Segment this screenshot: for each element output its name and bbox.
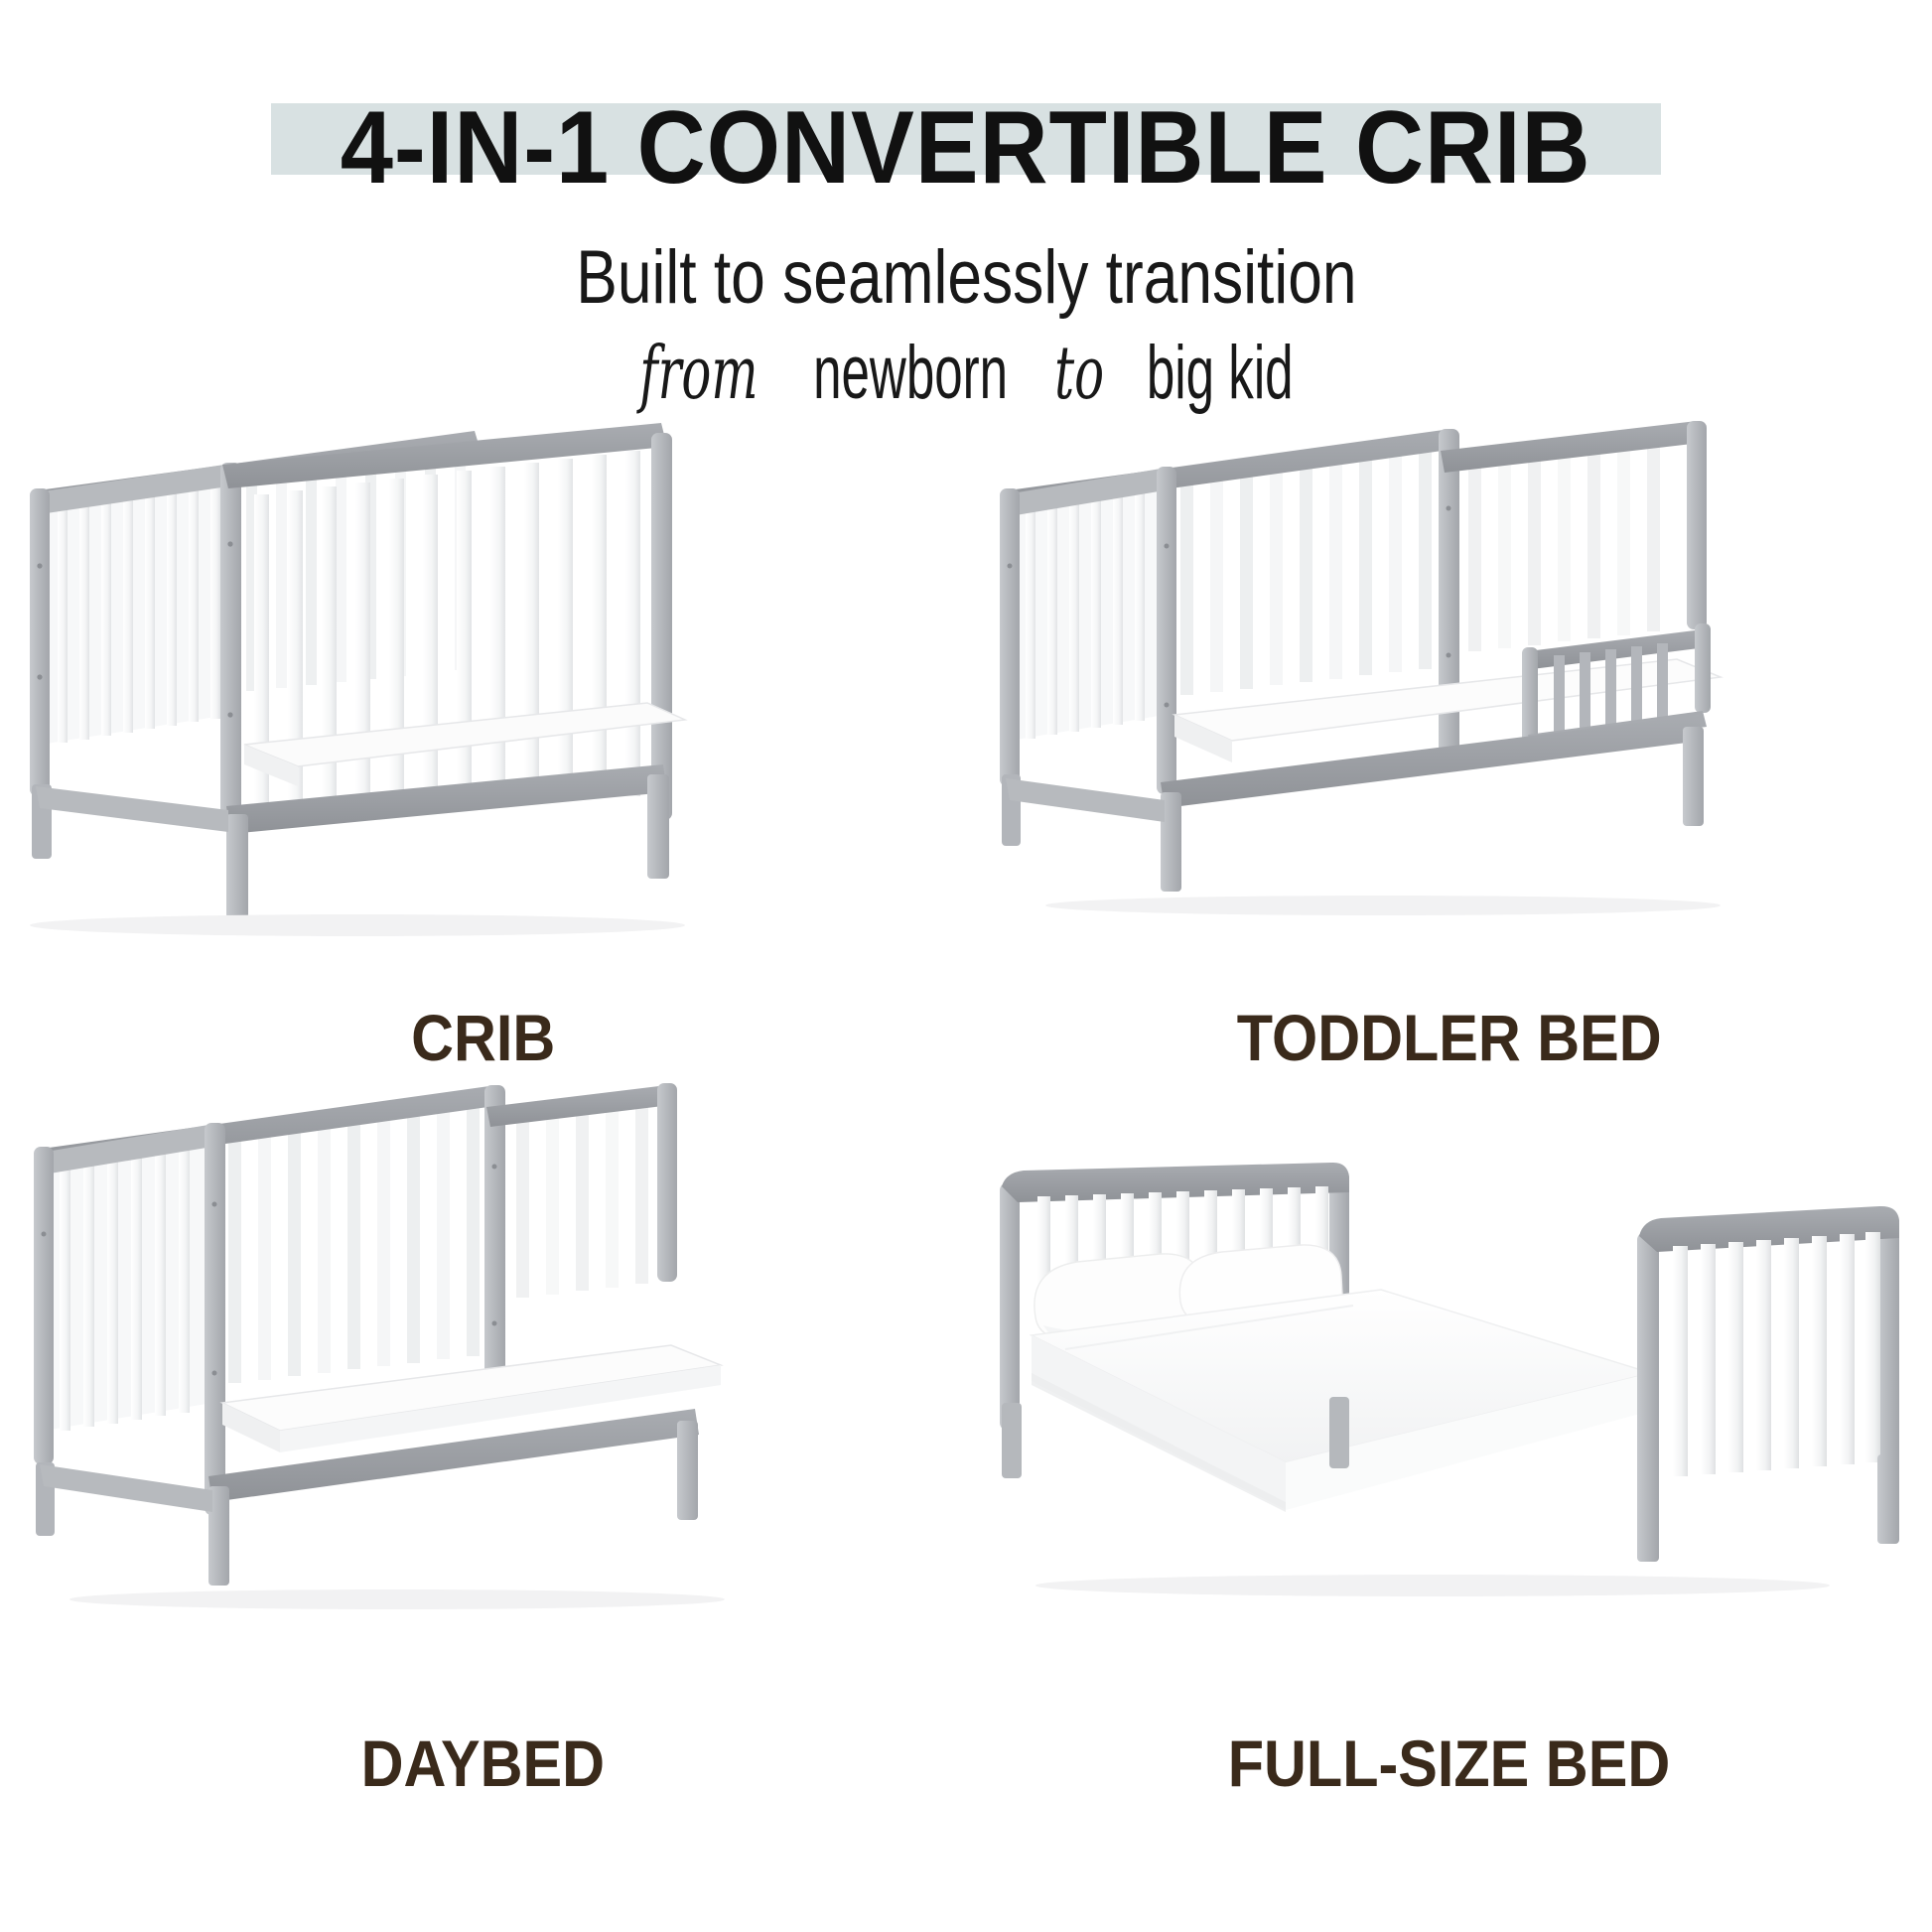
daybed-leg-front-right	[677, 1421, 698, 1520]
crib-front-left-post	[220, 463, 241, 820]
toddler-front-left-post	[1157, 467, 1176, 794]
infographic-page: 4-IN-1 CONVERTIBLE CRIB Built to seamles…	[0, 0, 1932, 1932]
product-grid: CRIB	[0, 417, 1932, 1932]
crib-leg-front-right	[647, 774, 669, 879]
product-cell-daybed: DAYBED	[0, 1075, 966, 1833]
headboard-left-post	[1000, 1182, 1020, 1431]
bed-leg-head-left	[1002, 1403, 1022, 1478]
subtitle-word-bigkid: big kid	[1146, 334, 1293, 414]
daybed-right-back-slats	[516, 1095, 648, 1298]
caption-full-size-bed: FULL-SIZE BED	[966, 1730, 1932, 1796]
toddler-bed-illustration	[966, 417, 1932, 993]
daybed-illustration	[0, 1075, 966, 1651]
daybed-front-left-post	[205, 1123, 225, 1515]
crib-illustration	[0, 417, 966, 993]
footboard-slats	[1673, 1232, 1880, 1476]
full-size-bed-illustration	[966, 1075, 1932, 1651]
daybed-left-panel	[44, 1127, 212, 1431]
bed-footboard	[1637, 1206, 1899, 1560]
caption-crib: CRIB	[0, 1005, 966, 1070]
daybed-right-corner-post	[657, 1083, 677, 1282]
product-cell-toddler-bed: TODDLER BED	[966, 417, 1932, 1174]
daybed-back-slats	[228, 1096, 480, 1383]
product-cell-crib: CRIB	[0, 417, 966, 1174]
product-cell-full-size-bed: FULL-SIZE BED	[966, 1075, 1932, 1833]
crib-right-post	[651, 433, 672, 820]
subtitle-script-to: to	[1051, 335, 1106, 412]
page-title: 4-IN-1 CONVERTIBLE CRIB	[341, 96, 1591, 200]
subtitle-line-1: Built to seamlessly transition	[0, 238, 1932, 319]
page-title-wrap: 4-IN-1 CONVERTIBLE CRIB	[0, 103, 1932, 193]
daybed-left-post	[34, 1147, 54, 1464]
daybed-right-head-post	[484, 1085, 505, 1413]
bed-leg-front	[1637, 1472, 1659, 1562]
subtitle-line-1-text: Built to seamlessly transition	[576, 238, 1356, 319]
bed-leg-head-right	[1329, 1397, 1349, 1468]
header: 4-IN-1 CONVERTIBLE CRIB Built to seamles…	[0, 0, 1932, 417]
bed-leg-back	[1877, 1454, 1899, 1544]
subtitle-line-2-inner: from newborn to big kid	[623, 334, 1310, 414]
toddler-right-corner-post	[1687, 421, 1707, 629]
caption-daybed: DAYBED	[0, 1730, 966, 1796]
caption-toddler-bed: TODDLER BED	[966, 1005, 1932, 1070]
toddler-leg-front-right	[1683, 727, 1704, 826]
crib-left-post	[30, 488, 50, 796]
crib-leg-front-left	[226, 814, 248, 918]
subtitle-script-from: from	[636, 335, 760, 412]
toddler-left-post	[1000, 488, 1020, 786]
subtitle-word-newborn: newborn	[813, 334, 1008, 414]
subtitle-line-2: from newborn to big kid	[0, 334, 1932, 414]
